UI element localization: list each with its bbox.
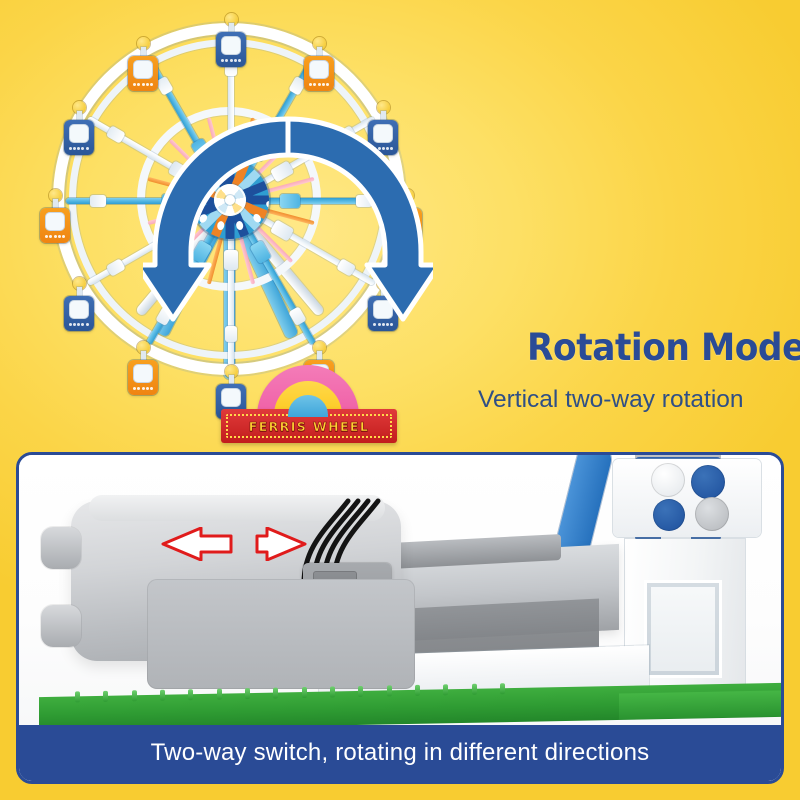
panel-caption: Two-way switch, rotating in different di… — [19, 725, 781, 781]
gondola-cabin — [216, 21, 246, 67]
white-beam-row — [613, 459, 761, 537]
motor-photo — [19, 455, 781, 728]
rotation-arrow-right — [288, 119, 433, 319]
sign-label: FERRIS WHEEL — [249, 419, 369, 434]
rotation-arrow-graphic — [143, 113, 433, 403]
pin-white-top — [651, 463, 685, 497]
gondola-window — [133, 60, 153, 79]
gondola-window — [69, 124, 89, 143]
ferris-wheel-illustration: FERRIS WHEEL — [25, 5, 485, 445]
gondola-body — [216, 32, 246, 67]
rotation-arrow-left — [143, 119, 288, 319]
gondola-cabin — [64, 285, 94, 331]
green-baseplate-right — [619, 690, 781, 719]
gondola-body — [128, 56, 158, 91]
gondola-window — [309, 60, 329, 79]
gondola-cabin — [40, 197, 70, 243]
motor-body — [71, 501, 401, 661]
pin-blue-top — [691, 465, 725, 499]
switch-direction-arrow-left — [163, 528, 231, 560]
feature-photo-panel: Two-way switch, rotating in different di… — [16, 452, 784, 784]
gondola-cabin — [128, 45, 158, 91]
gondola-body — [64, 296, 94, 331]
wall-window — [647, 583, 719, 675]
motor-nub-top — [41, 527, 81, 569]
gondola-window — [45, 212, 65, 231]
gondola-cabin — [304, 45, 334, 91]
gondola-window — [221, 36, 241, 55]
gondola-window — [69, 300, 89, 319]
product-feature-page: FERRIS WHEEL Rotation Mode Vertical two-… — [0, 0, 800, 800]
page-subtitle: Vertical two-way rotation — [478, 386, 744, 414]
page-title: Rotation Mode — [527, 326, 800, 369]
gondola-body — [304, 56, 334, 91]
hero-section: FERRIS WHEEL Rotation Mode Vertical two-… — [0, 0, 800, 455]
gondola-cabin — [64, 109, 94, 155]
pin-blue-bottom — [653, 499, 685, 531]
gondola-body — [64, 120, 94, 155]
gondola-body — [40, 208, 70, 243]
motor-face-plate — [147, 579, 415, 689]
motor-nub-bottom — [41, 605, 81, 647]
pin-gray — [695, 497, 729, 531]
